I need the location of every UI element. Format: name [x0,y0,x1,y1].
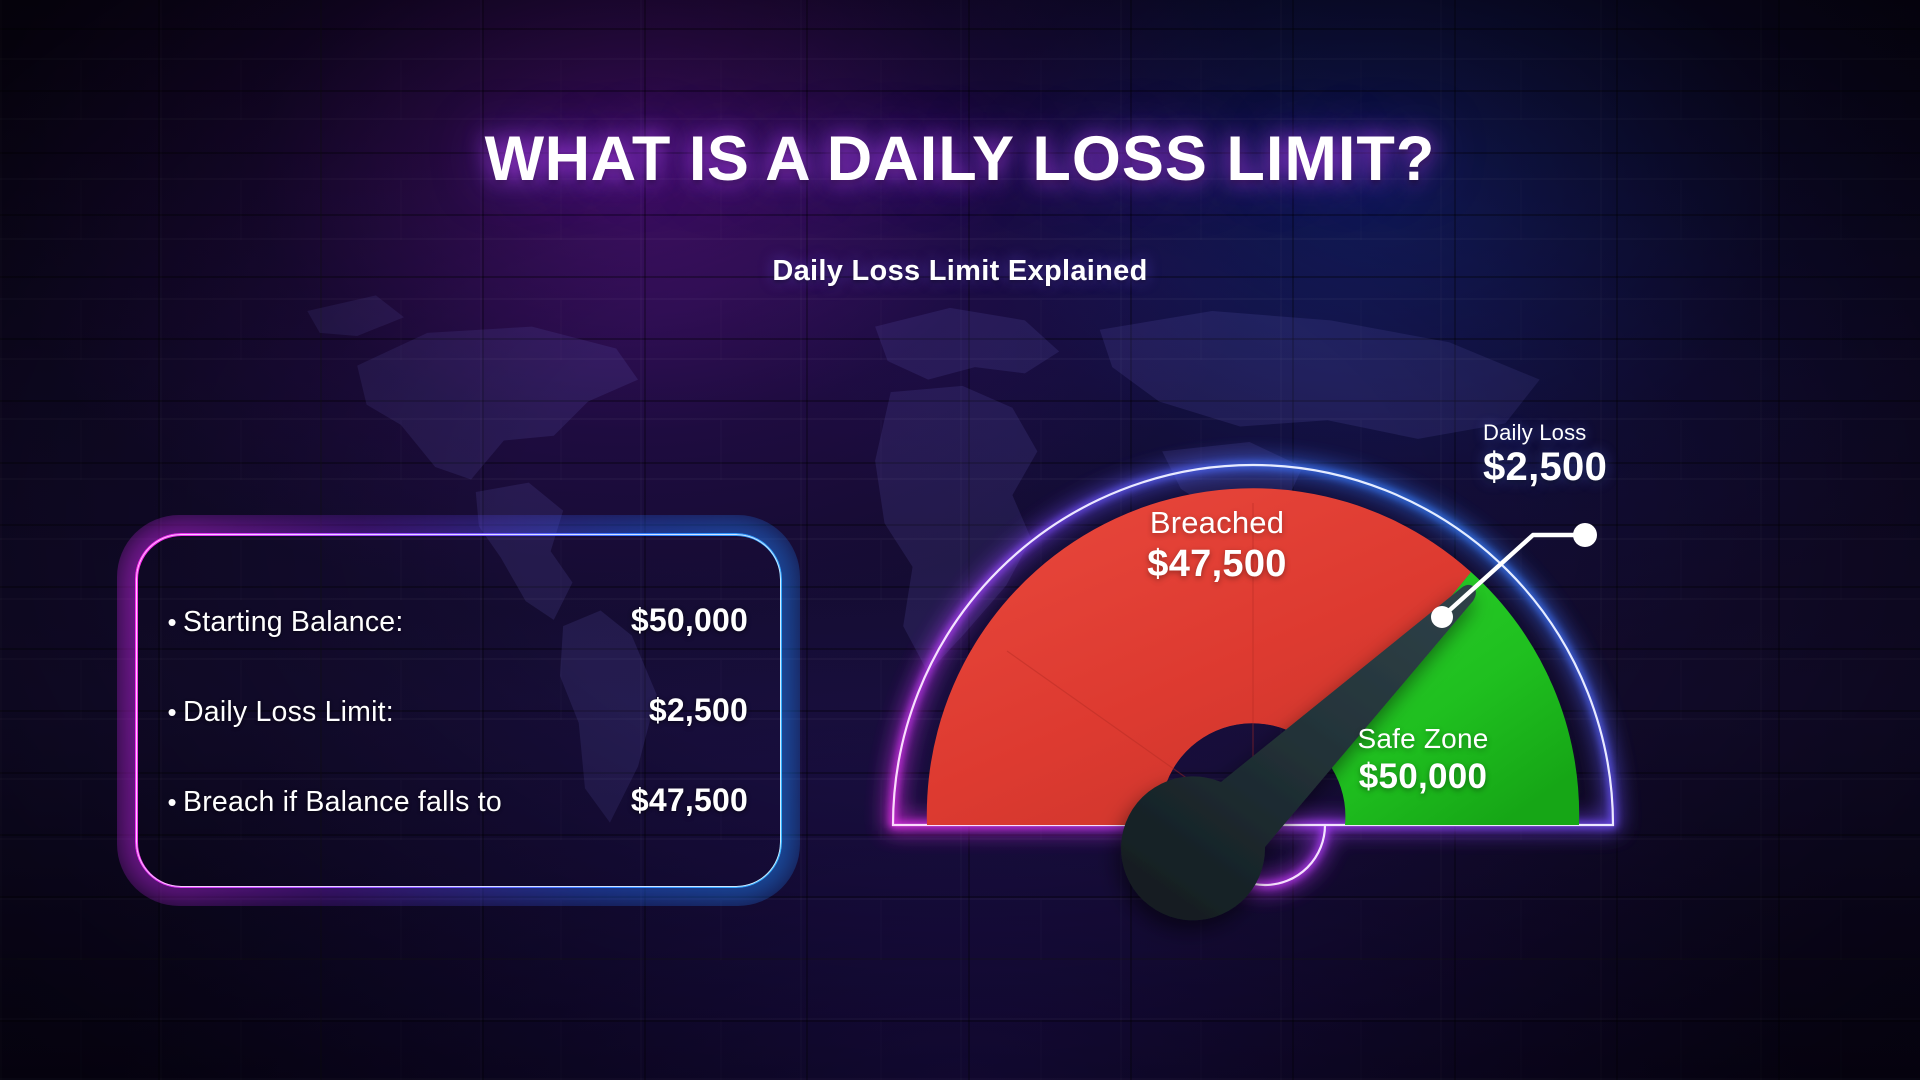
gauge-chart: Breached $47,500 Safe Zone $50,000 Daily… [885,455,1820,1000]
list-item-value: $47,500 [631,782,748,819]
bullet-icon: • [161,699,183,725]
bullet-icon: • [161,789,183,815]
list-item: • Daily Loss Limit: $2,500 [161,692,748,729]
title-light-part: WHAT IS A [485,124,827,194]
gauge-callout-daily-loss: Daily Loss $2,500 [1483,420,1783,490]
summary-panel: • Starting Balance: $50,000 • Daily Loss… [135,533,782,888]
title-heavy-part: DAILY LOSS LIMIT? [827,124,1436,194]
callout-title: Daily Loss [1483,420,1783,446]
list-item-value: $50,000 [631,602,748,639]
list-item-label: Daily Loss Limit: [183,696,394,729]
callout-amount: $2,500 [1483,445,1783,490]
callout-end-dot [1573,523,1597,547]
list-item: • Breach if Balance falls to $47,500 [161,782,748,819]
bullet-icon: • [161,609,183,635]
list-item-label: Starting Balance: [183,606,403,639]
list-item: • Starting Balance: $50,000 [161,602,748,639]
list-item-label: Breach if Balance falls to [183,786,502,819]
callout-anchor-dot [1431,606,1453,628]
list-item-value: $2,500 [649,692,748,729]
infographic-canvas: WHAT IS A DAILY LOSS LIMIT? Daily Loss L… [0,0,1920,1080]
page-subtitle: Daily Loss Limit Explained [0,255,1920,288]
page-title: WHAT IS A DAILY LOSS LIMIT? [0,128,1920,191]
summary-list: • Starting Balance: $50,000 • Daily Loss… [135,533,782,888]
